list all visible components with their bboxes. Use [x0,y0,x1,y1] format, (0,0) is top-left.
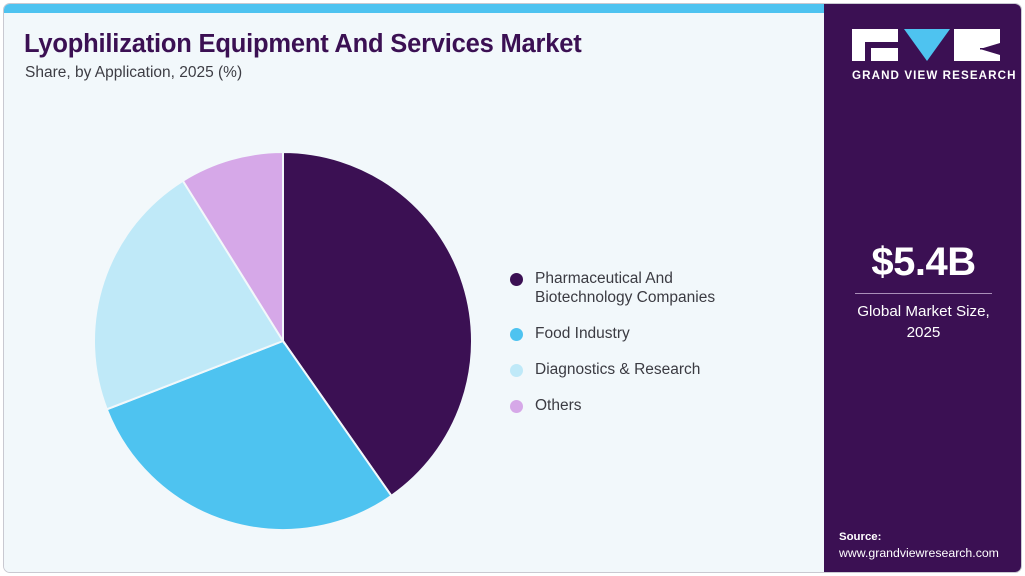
legend-item-label: Pharmaceutical And Biotechnology Compani… [535,269,750,307]
top-accent-bar [4,4,824,13]
legend-item-food-industry[interactable]: Food Industry [510,324,800,343]
logo-wordmark: GRAND VIEW RESEARCH [852,69,1000,82]
chart-infographic: Lyophilization Equipment And Services Ma… [0,0,1025,576]
legend-swatch-icon [510,328,523,341]
pie-chart-svg [94,152,472,530]
stat-divider [855,293,992,294]
side-panel: GRAND VIEW RESEARCH $5.4B Global Market … [824,4,1022,573]
source-label: Source: [839,529,1022,545]
legend-item-label: Others [535,396,582,415]
logo-v-triangle-icon [904,29,950,61]
legend-swatch-icon [510,364,523,377]
legend-item-label: Food Industry [535,324,630,343]
card-container: Lyophilization Equipment And Services Ma… [3,3,1022,573]
legend-item-diagnostics-research[interactable]: Diagnostics & Research [510,360,800,379]
legend-swatch-icon [510,273,523,286]
legend-swatch-icon [510,400,523,413]
pie-chart [94,152,472,530]
logo-g-icon [852,29,898,61]
source-block: Source: www.grandviewresearch.com [839,529,1022,562]
chart-area: Lyophilization Equipment And Services Ma… [4,13,824,573]
logo-r-icon [954,29,1000,61]
page-title: Lyophilization Equipment And Services Ma… [24,30,582,59]
legend-item-others[interactable]: Others [510,396,800,415]
legend-item-label: Diagnostics & Research [535,360,700,379]
page-subtitle: Share, by Application, 2025 (%) [25,64,242,82]
chart-legend: Pharmaceutical And Biotechnology Compani… [510,269,800,415]
brand-logo[interactable]: GRAND VIEW RESEARCH [852,29,1000,82]
stat-value: $5.4B [824,240,1022,284]
stat-block: $5.4B Global Market Size, 2025 [824,240,1022,343]
legend-item-pharmaceutical[interactable]: Pharmaceutical And Biotechnology Compani… [510,269,800,307]
stat-caption: Global Market Size, 2025 [824,301,1022,343]
source-url[interactable]: www.grandviewresearch.com [839,545,1022,562]
logo-marks [852,29,1000,61]
